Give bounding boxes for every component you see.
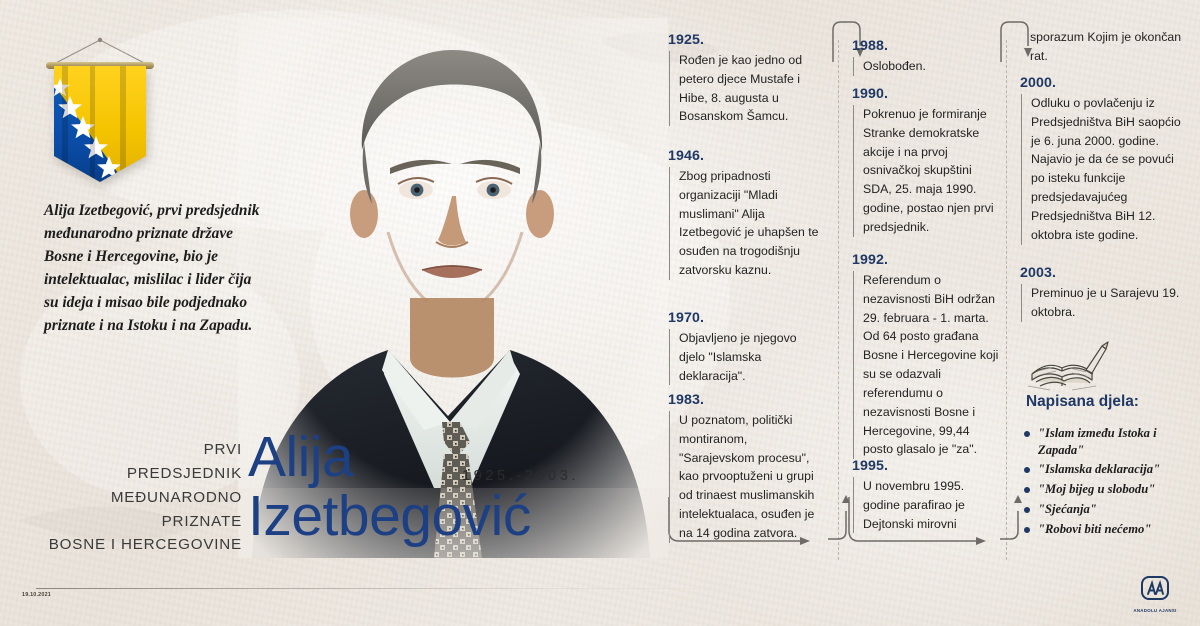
subtitle-line-1: PRVI bbox=[20, 438, 242, 462]
lede-paragraph: Alija Izetbegović, prvi predsjednik među… bbox=[44, 200, 262, 338]
bullet-icon bbox=[1024, 467, 1030, 473]
event-text-continued: sporazum Kojim je okončan rat. bbox=[1020, 28, 1185, 66]
event-text: Rođen je kao jedno od petero djece Musta… bbox=[669, 51, 820, 126]
list-item: "Robovi biti nećemo" bbox=[1024, 521, 1192, 538]
event-text: Referendum o nezavisnosti BiH održan 29.… bbox=[853, 271, 1002, 459]
list-item: "Sjećanja" bbox=[1024, 501, 1192, 518]
event-year: 2000. bbox=[1020, 75, 1185, 91]
work-title: "Robovi biti nećemo" bbox=[1038, 521, 1151, 538]
list-item: "Islam između Istoka i Zapada" bbox=[1024, 425, 1192, 458]
timeline-event-1990: 1990. Pokrenuo je formiranje Stranke dem… bbox=[852, 86, 1002, 237]
bullet-icon bbox=[1024, 487, 1030, 493]
bosnia-herzegovina-flag-pennant bbox=[44, 36, 156, 186]
event-year: 2003. bbox=[1020, 265, 1185, 281]
subtitle-block: PRVI PREDSJEDNIK MEĐUNARODNO PRIZNATE BO… bbox=[20, 438, 242, 557]
event-text: Odluku o povlačenju iz Predsjedništva Bi… bbox=[1021, 94, 1185, 245]
event-year: 1946. bbox=[668, 148, 820, 164]
event-year: 1970. bbox=[668, 310, 820, 326]
subtitle-line-5: BOSNE I HERCEGOVINE bbox=[20, 533, 242, 557]
timeline-event-1970: 1970. Objavljeno je njegovo djelo "Islam… bbox=[668, 310, 820, 385]
timeline-event-2003: 2003. Preminuo je u Sarajevu 19. oktobra… bbox=[1020, 265, 1185, 322]
bullet-icon bbox=[1024, 507, 1030, 513]
timeline-event-2000: 2000. Odluku o povlačenju iz Predsjedniš… bbox=[1020, 75, 1185, 245]
lifespan-label: 1925.-2003. bbox=[462, 468, 579, 484]
timeline-event-1925: 1925. Rođen je kao jedno od petero djece… bbox=[668, 32, 820, 126]
work-title: "Moj bijeg u slobodu" bbox=[1038, 481, 1155, 498]
timeline-column-1: 1925. Rođen je kao jedno od petero djece… bbox=[668, 0, 820, 626]
timeline-event-1946: 1946. Zbog pripadnosti organizaciji "Mla… bbox=[668, 148, 820, 280]
timeline-event-1995-continued: sporazum Kojim je okončan rat. bbox=[1020, 28, 1185, 66]
aa-mark-icon bbox=[1124, 576, 1186, 602]
list-item: "Moj bijeg u slobodu" bbox=[1024, 481, 1192, 498]
bullet-icon bbox=[1024, 431, 1030, 437]
infographic-canvas: Alija Izetbegović, prvi predsjednik među… bbox=[0, 0, 1200, 626]
bullet-icon bbox=[1024, 527, 1030, 533]
event-text: Oslobođen. bbox=[853, 57, 1002, 76]
event-year: 1988. bbox=[852, 38, 1002, 54]
work-title: "Sjećanja" bbox=[1038, 501, 1097, 518]
event-text: U poznatom, politički montiranom, "Saraj… bbox=[669, 411, 820, 543]
timeline-event-1995: 1995. U novembru 1995. godine parafirao … bbox=[852, 458, 1002, 533]
work-title: "Islam između Istoka i Zapada" bbox=[1038, 425, 1192, 458]
event-year: 1992. bbox=[852, 252, 1002, 268]
timeline-column-2: 1988. Oslobođen. 1990. Pokrenuo je formi… bbox=[852, 0, 1002, 626]
book-quill-icon bbox=[1026, 340, 1114, 392]
list-item: "Islamska deklaracija" bbox=[1024, 461, 1192, 478]
person-first-name: Alija bbox=[248, 428, 648, 487]
event-text: U novembru 1995. godine parafirao je Dej… bbox=[853, 477, 1002, 533]
date-stamp: 19.10.2021 bbox=[22, 592, 51, 598]
event-year: 1925. bbox=[668, 32, 820, 48]
event-year: 1990. bbox=[852, 86, 1002, 102]
pennant-flag-icon bbox=[52, 64, 148, 184]
agency-name: ANADOLU AJANSI bbox=[1124, 608, 1186, 613]
subtitle-line-4: PRIZNATE bbox=[20, 510, 242, 534]
works-list: "Islam između Istoka i Zapada" "Islamska… bbox=[1024, 425, 1192, 540]
column-divider-1 bbox=[838, 40, 839, 560]
event-text: Objavljeno je njegovo djelo "Islamska de… bbox=[669, 329, 820, 385]
timeline-event-1992: 1992. Referendum o nezavisnosti BiH održ… bbox=[852, 252, 1002, 459]
event-text: Preminuo je u Sarajevu 19. oktobra. bbox=[1021, 284, 1185, 322]
event-year: 1983. bbox=[668, 392, 820, 408]
event-year: 1995. bbox=[852, 458, 1002, 474]
person-name: Alija Izetbegović bbox=[248, 428, 648, 545]
works-panel-title: Napisana djela: bbox=[1026, 393, 1139, 411]
event-text: Pokrenuo je formiranje Stranke demokrats… bbox=[853, 105, 1002, 237]
work-title: "Islamska deklaracija" bbox=[1038, 461, 1160, 478]
person-last-name: Izetbegović bbox=[248, 487, 648, 546]
subtitle-line-2: PREDSJEDNIK bbox=[20, 462, 242, 486]
subtitle-line-3: MEĐUNARODNO bbox=[20, 486, 242, 510]
event-text: Zbog pripadnosti organizaciji "Mladi mus… bbox=[669, 167, 820, 280]
footer-rule bbox=[36, 588, 736, 589]
column-divider-2 bbox=[1006, 40, 1007, 560]
anadolu-agency-logo: ANADOLU AJANSI bbox=[1124, 576, 1186, 612]
timeline-event-1988: 1988. Oslobođen. bbox=[852, 38, 1002, 76]
timeline-event-1983: 1983. U poznatom, politički montiranom, … bbox=[668, 392, 820, 543]
